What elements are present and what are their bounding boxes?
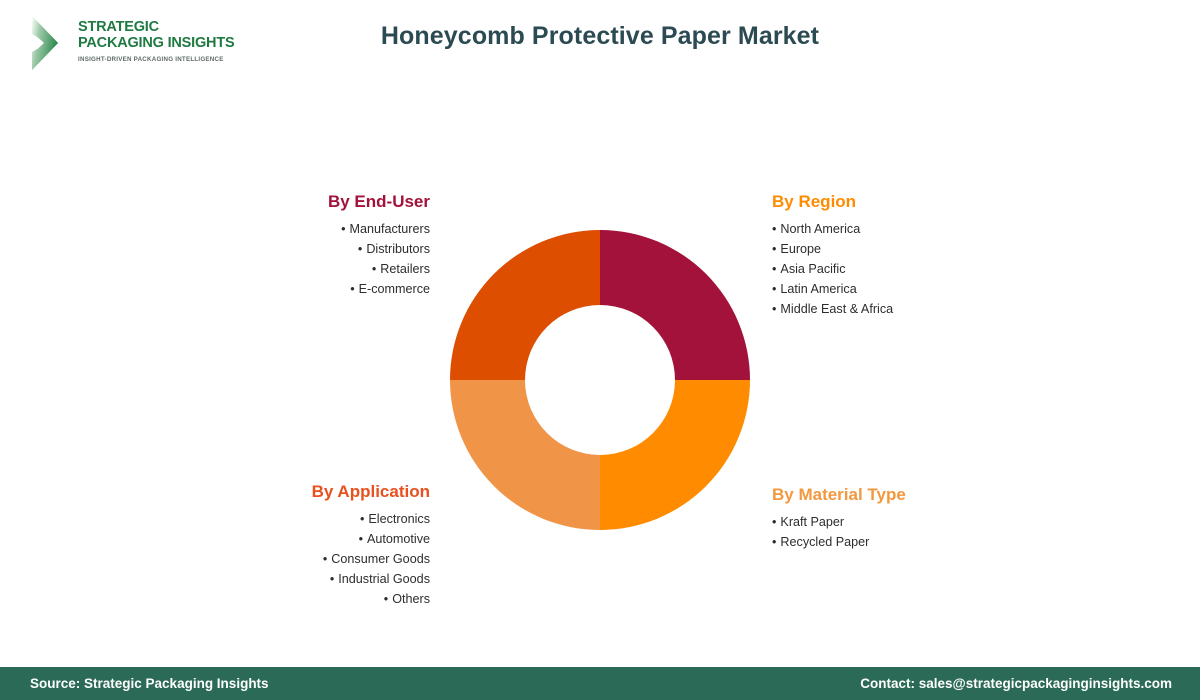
page-title: Honeycomb Protective Paper Market (0, 22, 1200, 51)
segment-title-material-type: By Material Type (772, 485, 1032, 505)
bullet-icon: • (323, 552, 327, 566)
segment-list-end-user: •Manufacturers•Distributors•Retailers•E-… (230, 219, 430, 299)
list-item-label: E-commerce (359, 282, 430, 296)
segment-block-material-type: By Material Type •Kraft Paper•Recycled P… (772, 485, 1032, 552)
list-item-label: Automotive (367, 532, 430, 546)
list-item: •Retailers (230, 259, 430, 279)
bullet-icon: • (772, 242, 776, 256)
page-header: STRATEGIC PACKAGING INSIGHTS INSIGHT-DRI… (0, 0, 1200, 100)
footer-source: Source: Strategic Packaging Insights (30, 676, 269, 691)
list-item-label: Electronics (368, 512, 430, 526)
list-item-label: Consumer Goods (331, 552, 430, 566)
list-item: •Distributors (230, 239, 430, 259)
list-item: •Industrial Goods (200, 569, 430, 589)
bullet-icon: • (341, 222, 345, 236)
list-item-label: Retailers (380, 262, 430, 276)
list-item: •Middle East & Africa (772, 299, 1032, 319)
donut-slice (600, 230, 750, 380)
bullet-icon: • (772, 515, 776, 529)
donut-chart-svg (450, 230, 750, 530)
bullet-icon: • (358, 242, 362, 256)
list-item: •Manufacturers (230, 219, 430, 239)
bullet-icon: • (372, 262, 376, 276)
donut-slice (450, 230, 600, 380)
bullet-icon: • (360, 512, 364, 526)
list-item-label: Distributors (366, 242, 430, 256)
footer-contact: Contact: sales@strategicpackaginginsight… (860, 676, 1172, 691)
list-item-label: Europe (780, 242, 821, 256)
donut-slice (600, 380, 750, 530)
list-item: •Kraft Paper (772, 512, 1032, 532)
list-item-label: Manufacturers (350, 222, 431, 236)
list-item: •Automotive (200, 529, 430, 549)
list-item-label: Asia Pacific (780, 262, 845, 276)
bullet-icon: • (772, 302, 776, 316)
bullet-icon: • (772, 282, 776, 296)
list-item-label: Latin America (780, 282, 856, 296)
page-footer: Source: Strategic Packaging Insights Con… (0, 667, 1200, 700)
bullet-icon: • (772, 535, 776, 549)
segment-title-end-user: By End-User (230, 192, 430, 212)
bullet-icon: • (772, 262, 776, 276)
donut-chart (450, 230, 750, 530)
list-item: •Asia Pacific (772, 259, 1032, 279)
bullet-icon: • (330, 572, 334, 586)
bullet-icon: • (359, 532, 363, 546)
bullet-icon: • (772, 222, 776, 236)
segment-list-application: •Electronics•Automotive•Consumer Goods•I… (200, 509, 430, 609)
logo-tagline: INSIGHT-DRIVEN PACKAGING INTELLIGENCE (78, 56, 234, 63)
segment-block-end-user: By End-User •Manufacturers•Distributors•… (230, 192, 430, 299)
list-item-label: Others (392, 592, 430, 606)
list-item-label: Recycled Paper (780, 535, 869, 549)
list-item-label: North America (780, 222, 860, 236)
segment-list-material-type: •Kraft Paper•Recycled Paper (772, 512, 1032, 552)
list-item: •Consumer Goods (200, 549, 430, 569)
list-item-label: Kraft Paper (780, 515, 844, 529)
bullet-icon: • (384, 592, 388, 606)
segment-title-application: By Application (200, 482, 430, 502)
list-item-label: Industrial Goods (338, 572, 430, 586)
bullet-icon: • (350, 282, 354, 296)
list-item: •Latin America (772, 279, 1032, 299)
list-item: •Europe (772, 239, 1032, 259)
list-item: •North America (772, 219, 1032, 239)
list-item: •Recycled Paper (772, 532, 1032, 552)
list-item: •Electronics (200, 509, 430, 529)
list-item-label: Middle East & Africa (780, 302, 893, 316)
segment-list-region: •North America•Europe•Asia Pacific•Latin… (772, 219, 1032, 319)
segment-title-region: By Region (772, 192, 1032, 212)
list-item: •Others (200, 589, 430, 609)
segment-block-region: By Region •North America•Europe•Asia Pac… (772, 192, 1032, 319)
segment-block-application: By Application •Electronics•Automotive•C… (200, 482, 430, 609)
list-item: •E-commerce (230, 279, 430, 299)
donut-slice (450, 380, 600, 530)
